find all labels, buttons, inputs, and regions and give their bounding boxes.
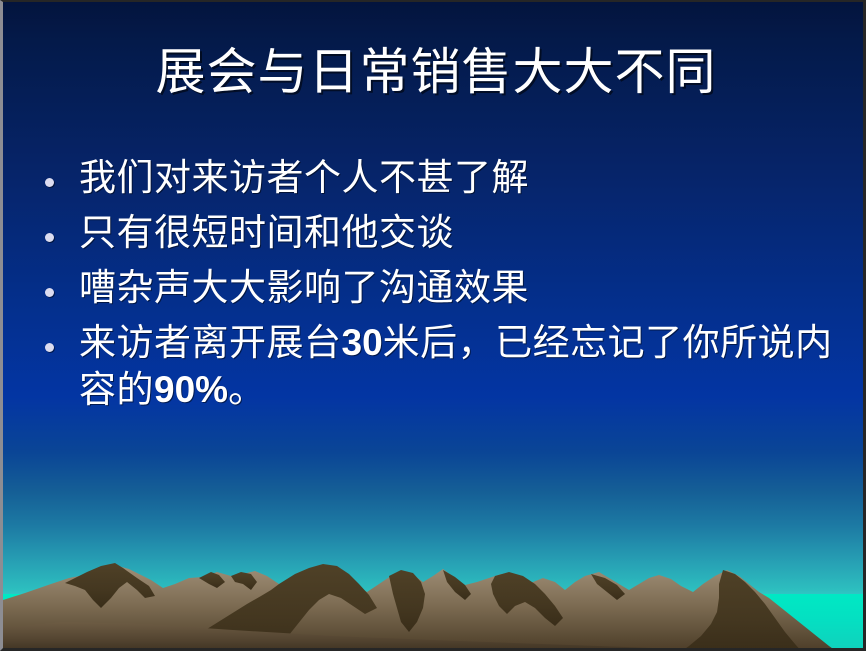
slide-title: 展会与日常销售大大不同 [3, 42, 866, 102]
bullet-item: 嘈杂声大大影响了沟通效果 [45, 264, 835, 311]
slide-body-content: 我们对来访者个人不甚了解 只有很短时间和他交谈 嘈杂声大大影响了沟通效果 来访者… [45, 154, 835, 421]
bullet-marker-icon [45, 264, 79, 301]
bullet-marker-icon [45, 319, 79, 356]
mountain-range-graphic [3, 432, 866, 651]
presentation-slide: 展会与日常销售大大不同 我们对来访者个人不甚了解 只有很短时间和他交谈 嘈杂声大… [0, 0, 866, 651]
bullet-text: 来访者离开展台30米后，已经忘记了你所说内容的90%。 [79, 319, 835, 413]
bullet-item: 我们对来访者个人不甚了解 [45, 154, 835, 201]
bullet-text: 只有很短时间和他交谈 [79, 209, 835, 256]
bullet-text: 我们对来访者个人不甚了解 [79, 154, 835, 201]
bullet-item: 只有很短时间和他交谈 [45, 209, 835, 256]
bullet-text: 嘈杂声大大影响了沟通效果 [79, 264, 835, 311]
bullet-marker-icon [45, 209, 79, 246]
bullet-marker-icon [45, 154, 79, 191]
bullet-item: 来访者离开展台30米后，已经忘记了你所说内容的90%。 [45, 319, 835, 413]
